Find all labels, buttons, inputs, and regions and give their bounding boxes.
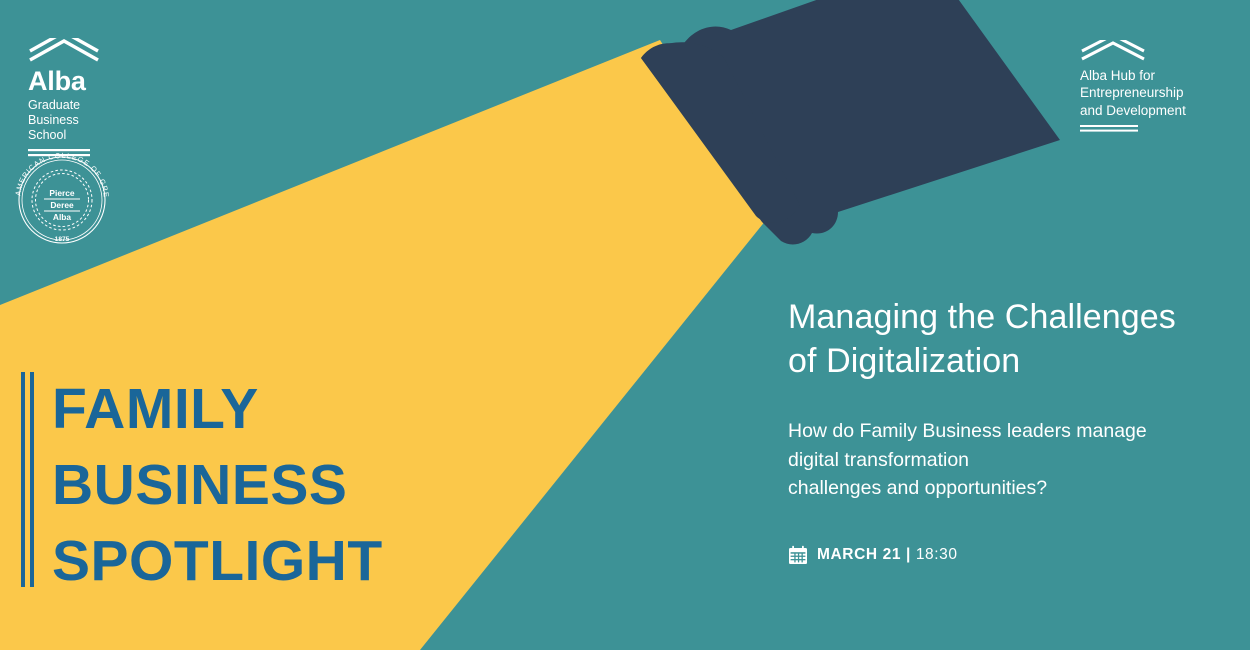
event-datetime: MARCH 21 | 18:30 bbox=[788, 545, 1238, 565]
event-time: 18:30 bbox=[916, 546, 958, 563]
event-date: MARCH 21 bbox=[817, 546, 901, 563]
poster-canvas: Alba Graduate Business School THE AMERIC… bbox=[0, 0, 1250, 650]
seal-year: 1875 bbox=[55, 236, 70, 243]
alba-logo: Alba Graduate Business School bbox=[28, 38, 158, 157]
headline-line3: SPOTLIGHT bbox=[52, 524, 383, 600]
event-title-line2: of Digitalization bbox=[788, 340, 1238, 384]
alba-sub-line3: School bbox=[28, 128, 158, 143]
seal-line-alba: Alba bbox=[53, 212, 71, 222]
event-details: Managing the Challenges of Digitalizatio… bbox=[788, 296, 1238, 565]
event-subtitle: How do Family Business leaders manage di… bbox=[788, 417, 1238, 503]
alba-sub-line2: Business bbox=[28, 113, 158, 128]
roof-chevron-icon bbox=[28, 38, 100, 64]
event-title: Managing the Challenges of Digitalizatio… bbox=[788, 296, 1238, 383]
hub-double-rule bbox=[1080, 125, 1138, 133]
event-subtitle-line2: digital transformation bbox=[788, 446, 1238, 475]
seal-line-pierce: Pierce bbox=[49, 188, 74, 198]
headline-line2: BUSINESS bbox=[52, 448, 383, 524]
headline-line1: FAMILY bbox=[52, 372, 383, 448]
event-subtitle-line1: How do Family Business leaders manage bbox=[788, 417, 1238, 446]
event-datetime-text: MARCH 21 | 18:30 bbox=[817, 546, 958, 564]
headline-text: FAMILY BUSINESS SPOTLIGHT bbox=[40, 372, 383, 599]
alba-sub-line1: Graduate bbox=[28, 98, 158, 113]
hub-line2: Entrepreneurship bbox=[1080, 84, 1232, 101]
calendar-icon bbox=[788, 545, 808, 565]
roof-chevron-icon bbox=[1080, 40, 1146, 62]
alba-wordmark: Alba bbox=[28, 67, 158, 95]
hub-line3: and Development bbox=[1080, 102, 1232, 119]
acg-seal: THE AMERICAN COLLEGE OF GREECE Pierce De… bbox=[8, 146, 116, 254]
headline-block: FAMILY BUSINESS SPOTLIGHT bbox=[18, 372, 383, 599]
event-date-separator: | bbox=[906, 546, 911, 563]
alba-hub-logo: Alba Hub for Entrepreneurship and Develo… bbox=[1080, 40, 1232, 133]
hub-line1: Alba Hub for bbox=[1080, 67, 1232, 84]
event-title-line1: Managing the Challenges bbox=[788, 296, 1238, 340]
event-subtitle-line3: challenges and opportunities? bbox=[788, 474, 1238, 503]
seal-line-deree: Deree bbox=[50, 200, 74, 210]
headline-accent-bars bbox=[18, 372, 40, 587]
